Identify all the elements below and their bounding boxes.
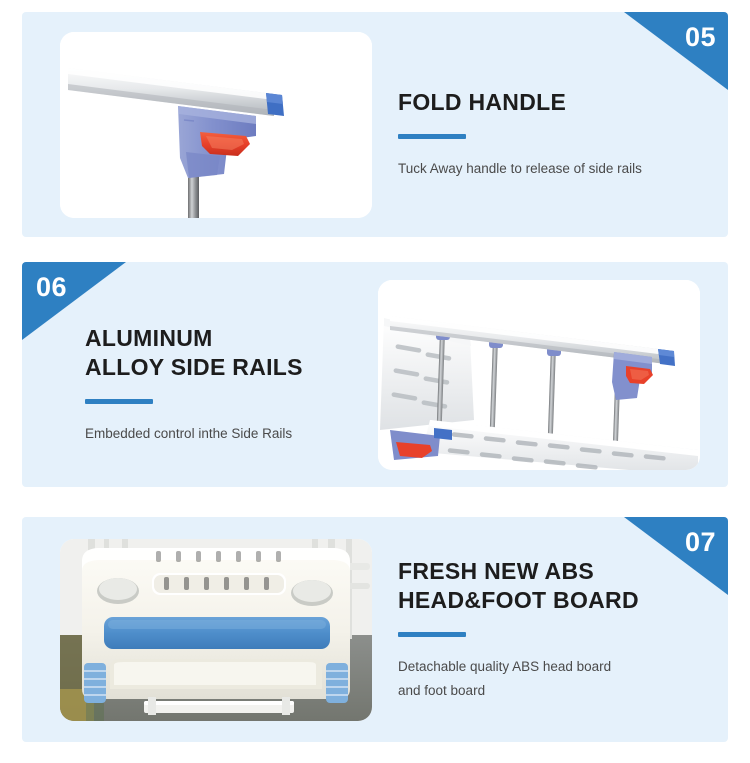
feature-cards-page: 05 — [0, 0, 750, 763]
card-description: Detachable quality ABS head board and fo… — [398, 655, 698, 702]
head-board-illustration — [60, 539, 372, 721]
card-text-block-05: FOLD HANDLE Tuck Away handle to release … — [398, 88, 698, 194]
abs-head-foot-board-photo — [60, 539, 372, 721]
card-number-badge-05: 05 — [624, 12, 728, 90]
card-number-label: 07 — [685, 529, 716, 556]
side-rails-illustration — [378, 280, 700, 470]
feature-card-05: 05 — [22, 12, 728, 237]
aluminum-alloy-side-rails-photo — [378, 280, 700, 470]
fold-handle-photo — [60, 32, 372, 218]
feature-card-07: 07 — [22, 517, 728, 742]
card-text-block-07: FRESH NEW ABS HEAD&FOOT BOARD Detachable… — [398, 557, 698, 716]
card-number-label: 06 — [36, 274, 67, 301]
feature-card-06: 06 — [22, 262, 728, 487]
title-divider — [398, 632, 466, 637]
card-title: FOLD HANDLE — [398, 88, 698, 117]
fold-handle-illustration — [60, 32, 372, 218]
title-divider — [398, 134, 466, 139]
card-title: FRESH NEW ABS HEAD&FOOT BOARD — [398, 557, 698, 615]
card-number-label: 05 — [685, 24, 716, 51]
card-description: Embedded control inthe Side Rails — [85, 422, 385, 446]
card-description: Tuck Away handle to release of side rail… — [398, 157, 698, 181]
title-divider — [85, 399, 153, 404]
card-title: ALUMINUM ALLOY SIDE RAILS — [85, 324, 385, 382]
card-text-block-06: ALUMINUM ALLOY SIDE RAILS Embedded contr… — [85, 324, 385, 459]
